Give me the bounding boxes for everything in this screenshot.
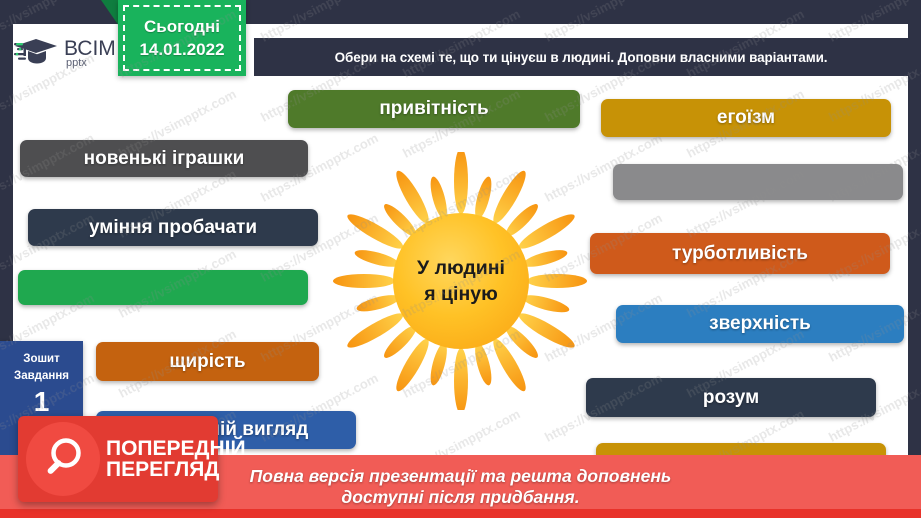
box-zverkhnist[interactable]: зверхність xyxy=(616,305,904,343)
banner-line2: доступні після придбання. xyxy=(341,487,579,507)
box-uminnia-label: уміння пробачати xyxy=(89,217,257,239)
box-rozum-label: розум xyxy=(703,387,759,409)
preview-stamp-line2: ПЕРЕГЛЯД xyxy=(106,459,246,480)
box-novenki-label: новенькі іграшки xyxy=(84,148,245,170)
date-badge-date: 14.01.2022 xyxy=(139,40,224,60)
instruction-bar: Обери на схемі те, що ти цінуєш в людині… xyxy=(254,38,908,76)
preview-stamp-text: ПОПЕРЕДНІЙ ПЕРЕГЛЯД xyxy=(106,438,246,480)
box-green-empty[interactable] xyxy=(18,270,308,305)
box-pryvitnist[interactable]: привітність xyxy=(288,90,580,128)
magnifier-icon xyxy=(26,422,100,496)
box-gray-empty[interactable] xyxy=(613,164,903,200)
box-ehoizm[interactable]: егоїзм xyxy=(601,99,891,137)
box-ehoizm-label: егоїзм xyxy=(717,107,775,129)
date-badge: Сьогодні 14.01.2022 xyxy=(118,0,246,76)
box-rozum[interactable]: розум xyxy=(586,378,876,417)
box-shchyrist-label: щирість xyxy=(169,351,245,373)
sun-icon xyxy=(330,152,592,410)
notebook-line1: Зошит xyxy=(23,351,60,368)
box-zverkhnist-label: зверхність xyxy=(709,313,811,335)
box-shchyrist[interactable]: щирість xyxy=(96,342,319,381)
sun-diagram: У людині я ціную xyxy=(330,152,592,410)
preview-stamp: ПОПЕРЕДНІЙ ПЕРЕГЛЯД xyxy=(18,416,218,502)
box-novenki[interactable]: новенькі іграшки xyxy=(20,140,308,177)
box-turbotlyvist-label: турботливість xyxy=(672,243,808,265)
slide-stage: ВСІМ pptx Сьогодні 14.01.2022 Обери на с… xyxy=(0,0,921,518)
box-uminnia[interactable]: уміння пробачати xyxy=(28,209,318,246)
date-badge-dashed-border xyxy=(123,5,241,71)
instruction-text: Обери на схемі те, що ти цінуєш в людині… xyxy=(335,50,828,65)
brand-name: ВСІМ xyxy=(64,38,116,59)
brand-wordmark: ВСІМ pptx xyxy=(64,38,116,69)
box-pryvitnist-label: привітність xyxy=(379,98,488,120)
banner-line1: Повна версія презентації та решта доповн… xyxy=(250,466,672,486)
date-badge-label: Сьогодні xyxy=(144,17,220,37)
notebook-number: 1 xyxy=(34,386,50,418)
graduation-cap-icon xyxy=(14,34,60,73)
badge-corner-decoration xyxy=(101,0,119,26)
box-turbotlyvist[interactable]: турботливість xyxy=(590,233,890,274)
notebook-line2: Завдання xyxy=(14,368,69,385)
brand-logo: ВСІМ pptx xyxy=(14,30,124,76)
preview-stamp-line1: ПОПЕРЕДНІЙ xyxy=(106,438,246,459)
bottom-strip xyxy=(0,509,921,518)
